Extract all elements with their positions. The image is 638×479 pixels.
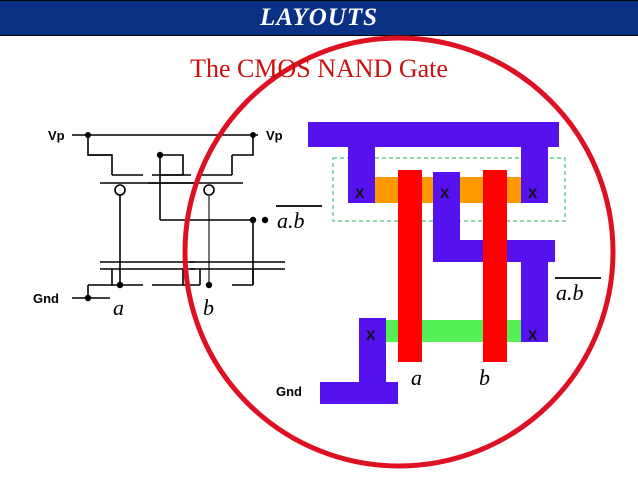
slide-canvas: LAYOUTS The CMOS NAND Gate Vp [0,0,638,479]
red-emphasis-circle [185,38,613,466]
page-title: The CMOS NAND Gate [0,54,638,84]
